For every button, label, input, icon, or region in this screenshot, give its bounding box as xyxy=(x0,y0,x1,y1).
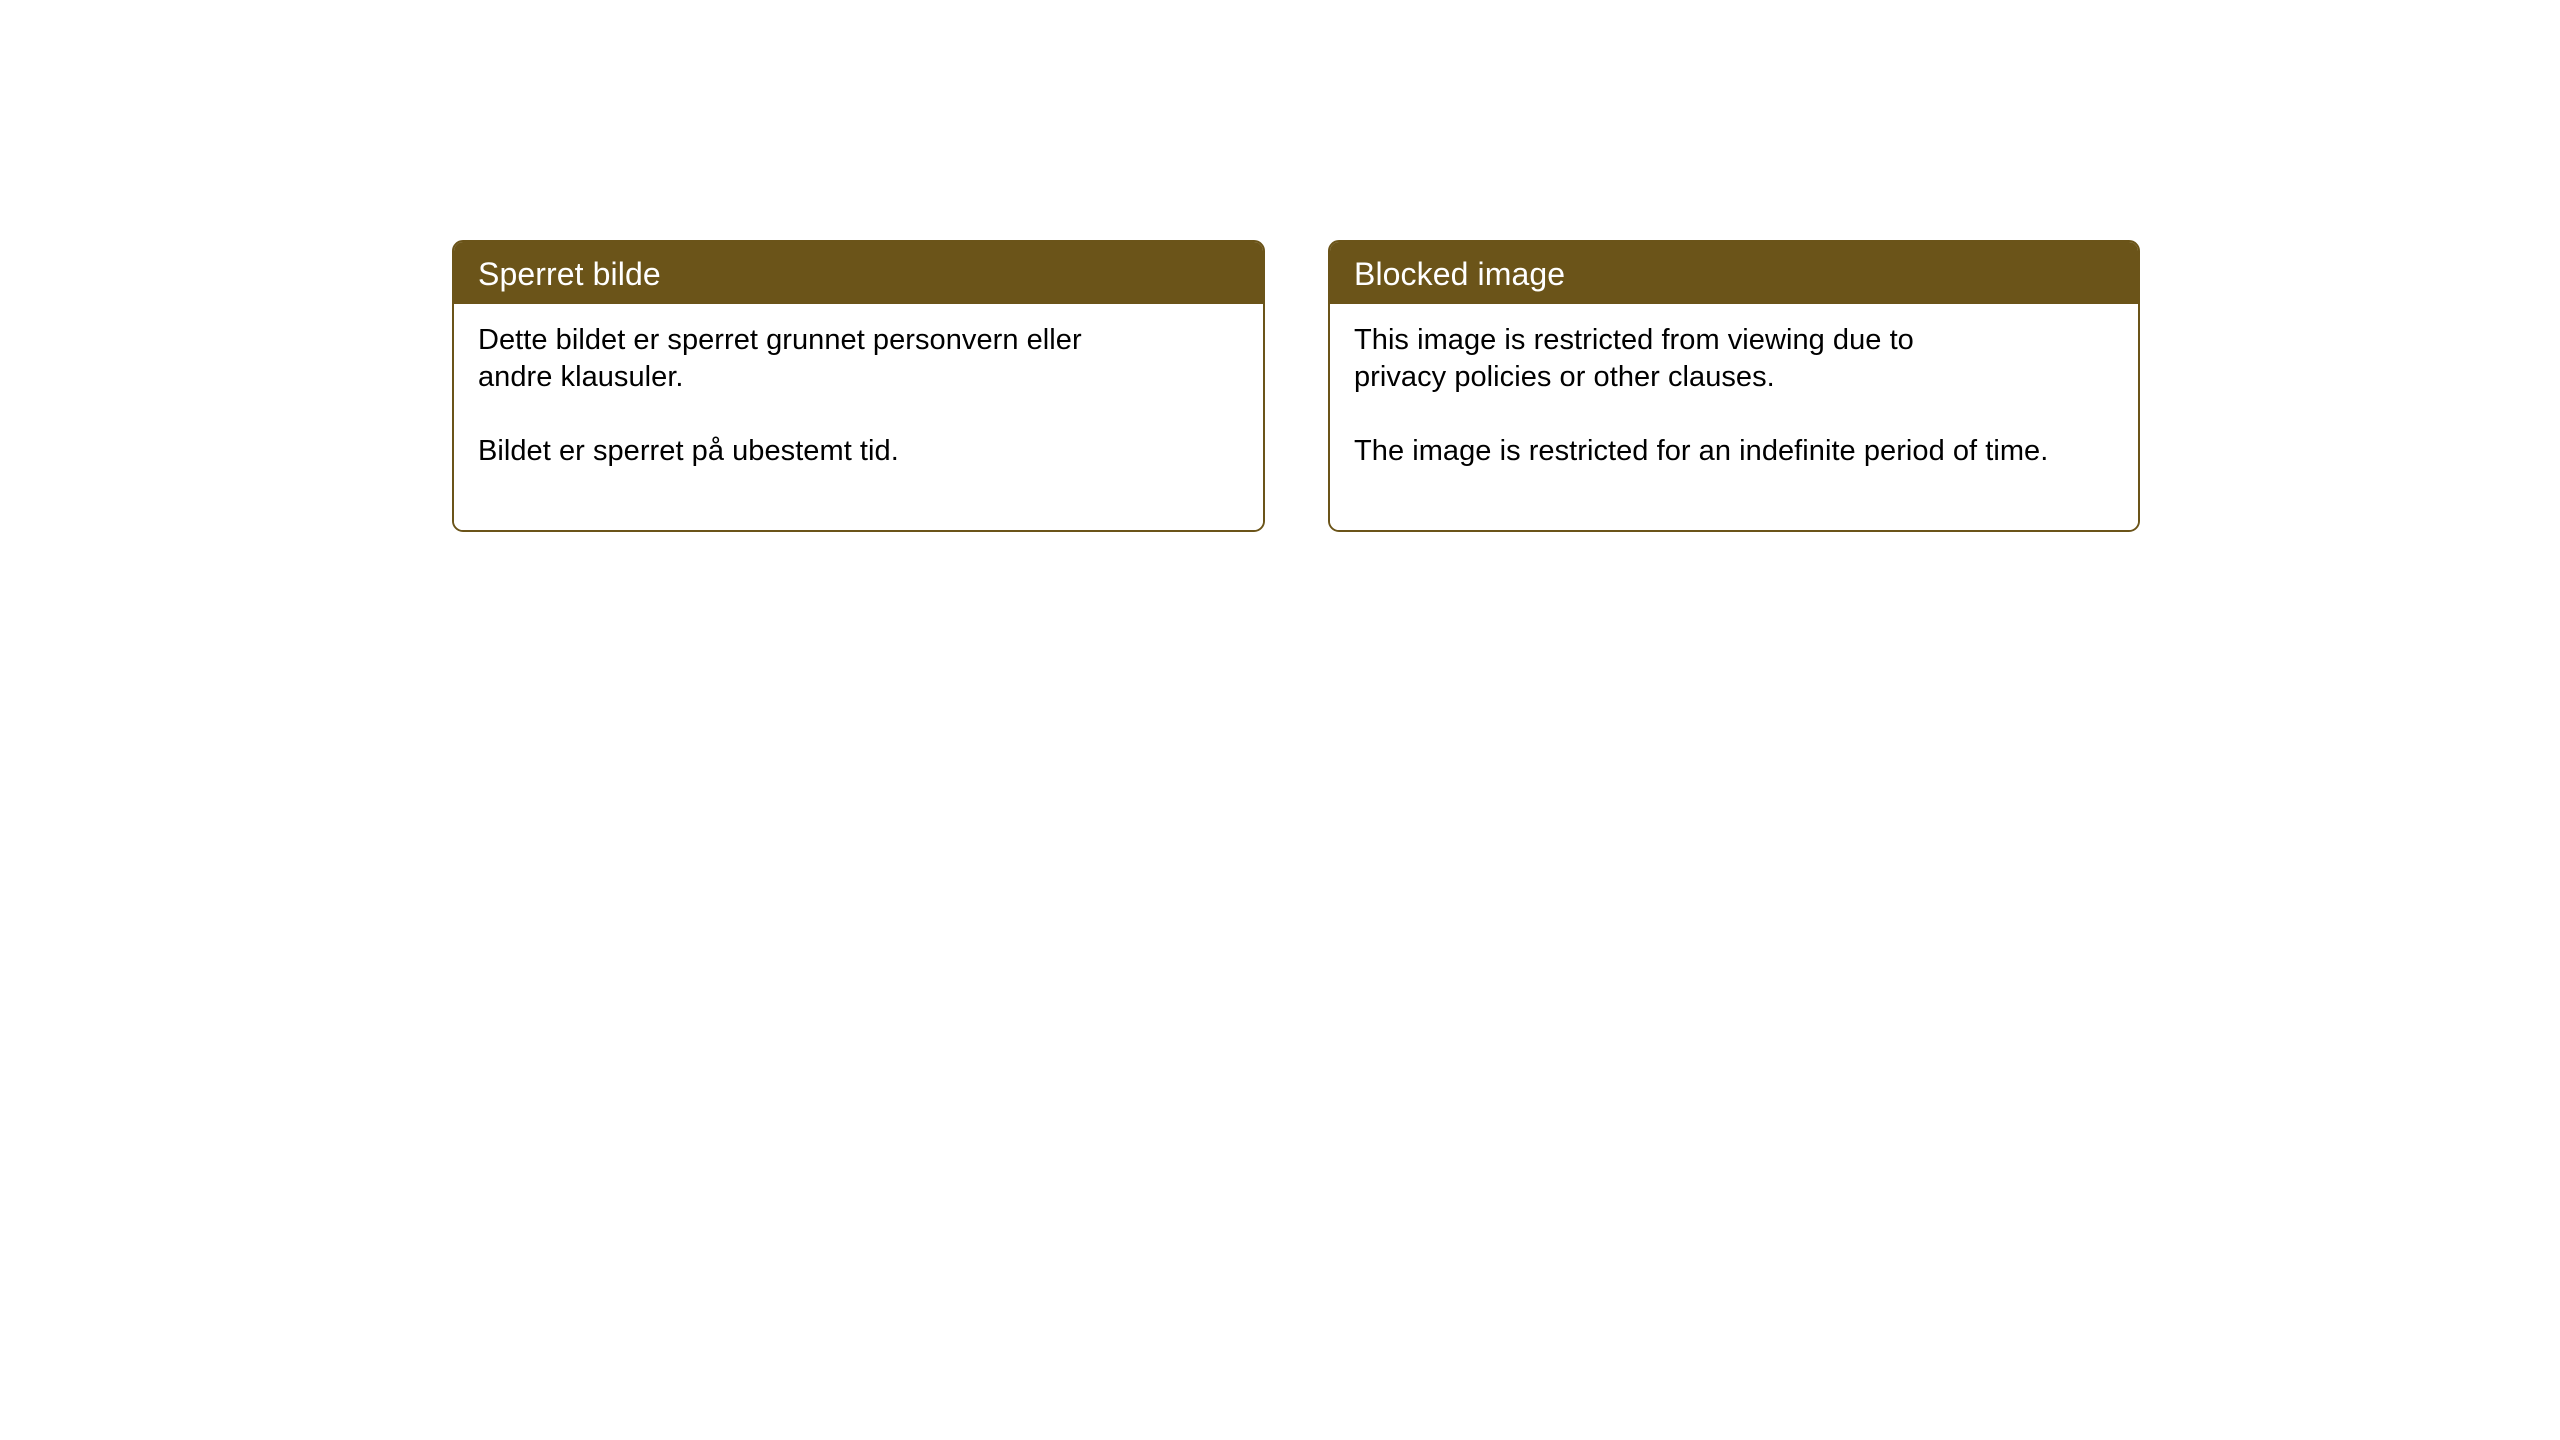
card-paragraph-duration-english: The image is restricted for an indefinit… xyxy=(1354,433,2054,470)
card-paragraph-duration-norwegian: Bildet er sperret på ubestemt tid. xyxy=(478,433,1239,470)
blocked-image-card-english: Blocked image This image is restricted f… xyxy=(1328,240,2140,532)
card-body-english: This image is restricted from viewing du… xyxy=(1330,304,2138,530)
page-root: Sperret bilde Dette bildet er sperret gr… xyxy=(0,0,2560,1440)
card-paragraph-reason-english: This image is restricted from viewing du… xyxy=(1354,322,2014,397)
blocked-image-notice-group: Sperret bilde Dette bildet er sperret gr… xyxy=(452,240,2140,532)
card-title-english: Blocked image xyxy=(1330,242,2138,304)
blocked-image-card-norwegian: Sperret bilde Dette bildet er sperret gr… xyxy=(452,240,1265,532)
card-paragraph-reason-norwegian: Dette bildet er sperret grunnet personve… xyxy=(478,322,1118,397)
card-body-norwegian: Dette bildet er sperret grunnet personve… xyxy=(454,304,1263,530)
card-title-norwegian: Sperret bilde xyxy=(454,242,1263,304)
